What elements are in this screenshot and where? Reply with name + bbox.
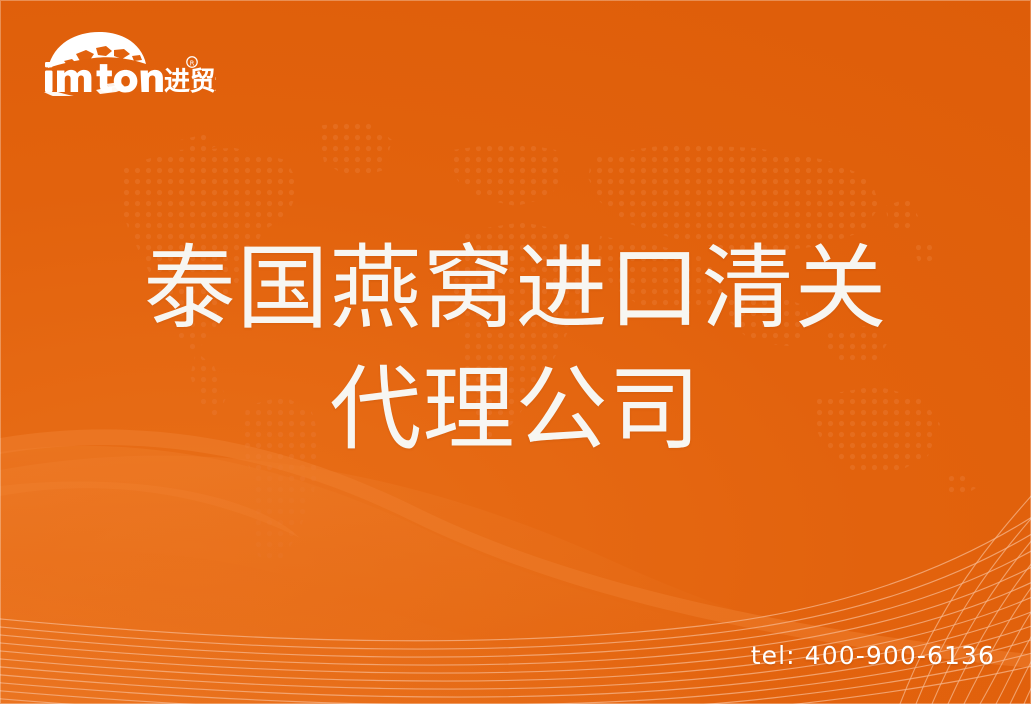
page-title-line-1: 泰国燕窝进口清关 bbox=[0, 228, 1031, 349]
svg-text:R: R bbox=[190, 59, 195, 67]
svg-text:进贸通: 进贸通 bbox=[164, 67, 216, 96]
logo-chinese-name: 进贸通 bbox=[164, 67, 216, 96]
promotional-banner: 进贸通 R 泰国燕窝进口清关 代理公司 tel: 400-900-6136 bbox=[0, 0, 1031, 704]
contact-telephone[interactable]: tel: 400-900-6136 bbox=[751, 641, 995, 670]
page-title-line-2: 代理公司 bbox=[0, 349, 1031, 470]
company-logo[interactable]: 进贸通 R bbox=[36, 28, 216, 96]
page-title: 泰国燕窝进口清关 代理公司 bbox=[0, 228, 1031, 471]
